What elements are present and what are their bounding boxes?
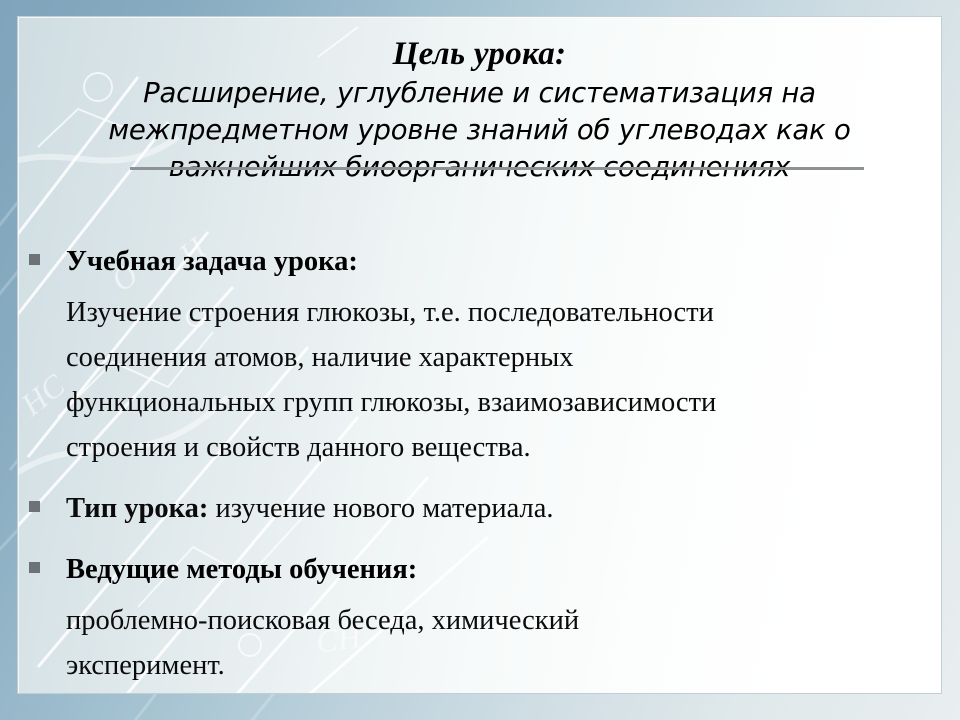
body-line: эксперимент.	[66, 643, 905, 688]
list-item-heading: Ведущие методы обучения:	[66, 547, 905, 592]
body-block: Учебная задача урока: Изучение строения …	[18, 239, 941, 690]
list-item: Учебная задача урока: Изучение строения …	[18, 239, 941, 470]
square-bullet-icon	[29, 254, 40, 265]
list-item-heading: Учебная задача урока:	[66, 239, 905, 284]
square-bullet-icon	[29, 562, 40, 573]
body-line: проблемно-поисковая беседа, химический	[66, 598, 905, 643]
slide: HC O CH	[0, 0, 960, 720]
body-line: функциональных групп глюкозы, взаимозави…	[66, 380, 905, 425]
list-item-body: проблемно-поисковая беседа, химический э…	[66, 598, 905, 688]
list-item: Ведущие методы обучения: проблемно-поиск…	[18, 547, 941, 688]
body-line: соединения атомов, наличие характерных	[66, 335, 905, 380]
body-line: строения и свойств данного вещества.	[66, 425, 905, 470]
spacer	[18, 472, 941, 486]
subtitle-line-2: межпредметном уровне знаний об углеводах…	[18, 112, 941, 149]
list-item-heading: Тип урока: изучение нового материала.	[66, 486, 905, 531]
list-item-inline-text: изучение нового материала.	[208, 493, 553, 524]
title-underline-rule	[130, 167, 864, 170]
spacer	[18, 533, 941, 547]
list-item: Тип урока: изучение нового материала.	[18, 486, 941, 531]
list-item-body: Изучение строения глюкозы, т.е. последов…	[66, 290, 905, 470]
list-item-heading-label: Тип урока:	[66, 493, 208, 524]
slide-title-block: Цель урока: Расширение, углубление и сис…	[18, 33, 941, 186]
body-line: Изучение строения глюкозы, т.е. последов…	[66, 290, 905, 335]
subtitle-line-1: Расширение, углубление и систематизация …	[18, 75, 941, 112]
page-title: Цель урока:	[18, 33, 941, 75]
content-panel: HC O H CH Цель урока: Расширение, углубл…	[17, 16, 942, 694]
square-bullet-icon	[29, 501, 40, 512]
